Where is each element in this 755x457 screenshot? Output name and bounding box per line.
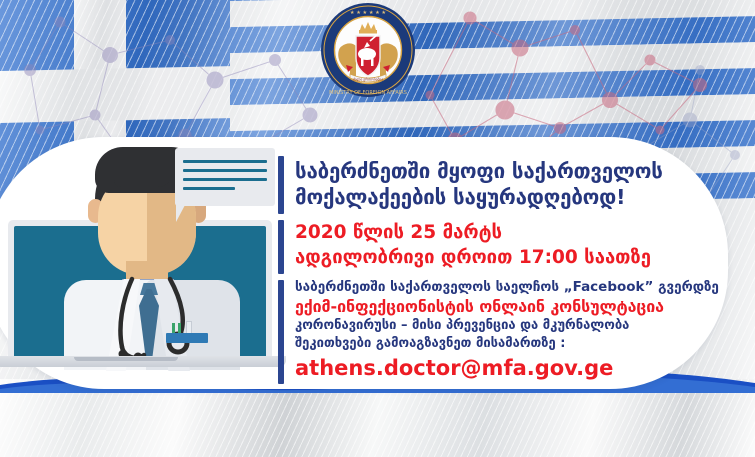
svg-text:★ ★ ★ ★ ★ ★: ★ ★ ★ ★ ★ ★ bbox=[350, 10, 386, 16]
bubble-line-1 bbox=[183, 160, 267, 163]
contact-email[interactable]: athens.doctor@mfa.gov.ge bbox=[295, 355, 725, 381]
body-line-consultation: ექიმ-ინფექციონისტის ონლაინ კონსულტაცია bbox=[295, 296, 725, 317]
bubble-line-4 bbox=[183, 187, 235, 190]
flag-cross-horizontal bbox=[0, 66, 230, 123]
body-block: საბერძნეთში საქართველოს საელჩოს „Faceboo… bbox=[295, 278, 725, 381]
speech-bubble-icon bbox=[175, 148, 275, 206]
time-line: ადგილობრივი დროით 17:00 საათზე bbox=[295, 245, 715, 270]
svg-text:ძალა ერთობაშია: ძალა ერთობაშია bbox=[353, 78, 383, 82]
body-line-questions: შეკითხვები გამოაგზავნეთ მისამართზე : bbox=[295, 335, 725, 353]
date-line: 2020 წლის 25 მარტს bbox=[295, 220, 715, 245]
date-time-block: 2020 წლის 25 მარტს ადგილობრივი დროით 17:… bbox=[295, 220, 715, 270]
hair-fringe bbox=[114, 173, 172, 187]
accent-bar-headline bbox=[278, 156, 284, 214]
svg-text:MINISTRY OF FOREIGN AFFAIRS: MINISTRY OF FOREIGN AFFAIRS bbox=[329, 90, 407, 96]
body-line-topic: კორონავირუსი – მისი პრევენცია და მკურნალ… bbox=[295, 317, 725, 335]
headline-line-1: საბერძნეთში მყოფი საქართველოს bbox=[295, 158, 715, 184]
laptop-trackpad-notch bbox=[74, 357, 178, 361]
poster-canvas: ★ ★ ★ ★ ★ ★ MINISTRY OF FOREIGN AFFAIRS … bbox=[0, 0, 755, 457]
body-line-facebook: საბერძნეთში საქართველოს საელჩოს „Faceboo… bbox=[295, 278, 725, 296]
coat-pocket bbox=[166, 333, 208, 343]
accent-bar-date bbox=[278, 220, 284, 274]
speech-bubble-tail bbox=[176, 205, 198, 222]
bubble-line-2 bbox=[183, 169, 267, 172]
headline: საბერძნეთში მყოფი საქართველოს მოქალაქეებ… bbox=[295, 158, 715, 210]
bubble-line-3 bbox=[183, 178, 267, 181]
headline-line-2: მოქალაქეების საყურადღებოდ! bbox=[295, 184, 715, 210]
ministry-emblem-icon: ★ ★ ★ ★ ★ ★ MINISTRY OF FOREIGN AFFAIRS … bbox=[320, 2, 416, 98]
doctor-laptop-illustration bbox=[0, 137, 300, 389]
accent-bar-body bbox=[278, 280, 284, 384]
